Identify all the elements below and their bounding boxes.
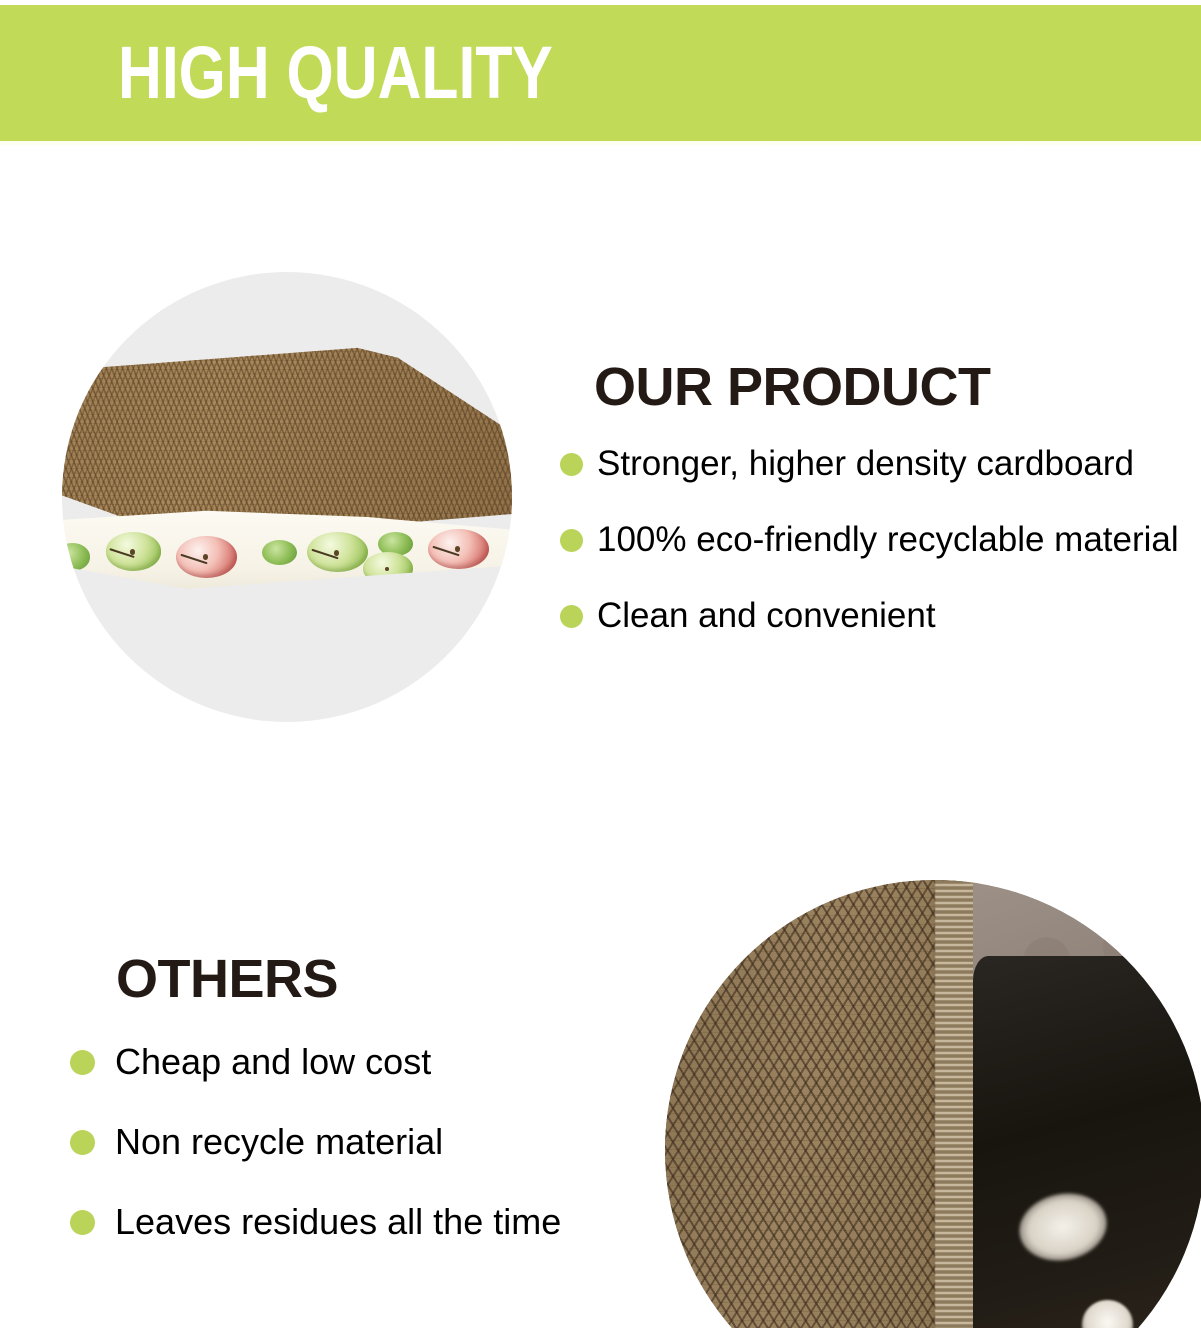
leaf-icon	[262, 540, 297, 565]
bullet-dot-icon	[70, 1210, 95, 1235]
cardboard-texture-photo-circle	[665, 880, 1201, 1328]
red-apple-icon	[176, 536, 236, 578]
list-item-label: 100% eco-friendly recyclable material	[597, 519, 1179, 561]
list-item: Leaves residues all the time	[70, 1198, 670, 1246]
banner-underglow	[0, 141, 1201, 147]
product-photo-circle	[62, 272, 512, 722]
others-bullet-list: Cheap and low cost Non recycle material …	[70, 1038, 670, 1278]
bullet-dot-icon	[560, 453, 583, 476]
list-item: Cheap and low cost	[70, 1038, 670, 1086]
green-apple-icon	[363, 552, 413, 585]
cat-chest-fur	[1014, 1185, 1114, 1268]
others-heading: OTHERS	[116, 950, 338, 1008]
bullet-dot-icon	[70, 1050, 95, 1075]
cat-silhouette	[973, 956, 1201, 1328]
infographic-page: HIGH QUALITY OUR PRODUCT Stronger, highe…	[0, 0, 1201, 1328]
bullet-dot-icon	[70, 1130, 95, 1155]
header-banner: HIGH QUALITY	[0, 5, 1201, 141]
list-item: Clean and convenient	[560, 592, 1185, 640]
scratcher-pad-illustration	[62, 344, 512, 596]
list-item-label: Stronger, higher density cardboard	[597, 443, 1134, 485]
list-item: 100% eco-friendly recyclable material	[560, 516, 1185, 564]
red-apple-icon	[428, 529, 488, 569]
corrugated-top-surface	[62, 344, 512, 541]
bullet-dot-icon	[560, 529, 583, 552]
our-product-bullet-list: Stronger, higher density cardboard 100% …	[560, 440, 1185, 668]
list-item: Stronger, higher density cardboard	[560, 440, 1185, 488]
banner-title: HIGH QUALITY	[118, 33, 553, 113]
list-item: Non recycle material	[70, 1118, 670, 1166]
our-product-heading: OUR PRODUCT	[594, 358, 991, 416]
list-item-label: Non recycle material	[115, 1121, 443, 1163]
green-apple-icon	[307, 532, 367, 572]
green-apple-icon	[106, 532, 161, 570]
corrugated-board-face	[665, 880, 957, 1328]
list-item-label: Cheap and low cost	[115, 1041, 431, 1083]
leaf-icon	[62, 543, 90, 570]
list-item-label: Clean and convenient	[597, 595, 936, 637]
cat-paw	[1082, 1300, 1134, 1328]
bullet-dot-icon	[560, 605, 583, 628]
list-item-label: Leaves residues all the time	[115, 1201, 561, 1243]
